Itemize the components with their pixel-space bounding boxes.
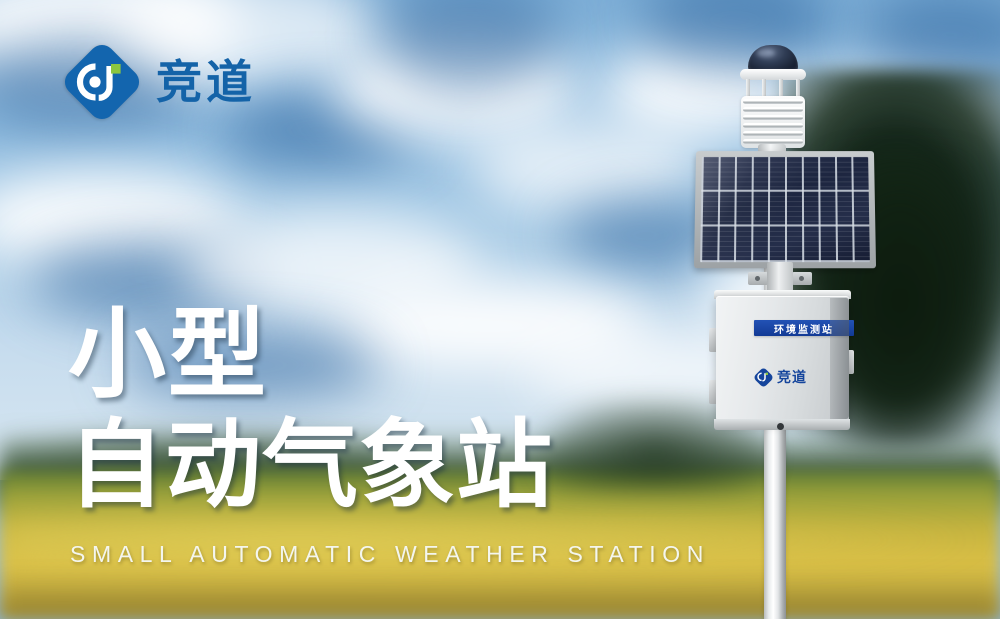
enclosure-bolt-icon [777,423,784,430]
brand-lockup: 竞道 [64,44,256,120]
panel-mount [767,262,793,292]
enclosure-side [830,298,849,419]
headline-line-1: 小型 [68,300,688,410]
weather-station-product: 环境监测站 竞道 [690,28,880,619]
enclosure-brand-logo: 竞道 [754,368,807,387]
ultrasonic-sensor-dome [748,45,798,72]
jingdao-diamond-logo-icon [64,44,140,120]
brand-name: 竞道 [156,59,256,105]
logo-glyph [64,44,140,120]
headline-line-2: 自动气象站 [68,410,688,520]
radiation-shield [741,96,805,148]
panel-bracket-right [792,272,812,285]
product-banner: 环境监测站 竞道 [0,0,1000,619]
solar-panel-glare [700,157,870,262]
enclosure-brand-name: 竞道 [777,371,807,385]
enclosure-label-text: 环境监测站 [774,321,834,336]
solar-panel [695,150,875,272]
headline-block: 小型 自动气象站 [68,300,688,520]
solar-panel-frame [694,151,876,268]
jingdao-diamond-logo-icon [754,368,773,387]
panel-bracket-left [748,272,768,285]
headline-subtitle: SMALL AUTOMATIC WEATHER STATION [70,541,710,568]
